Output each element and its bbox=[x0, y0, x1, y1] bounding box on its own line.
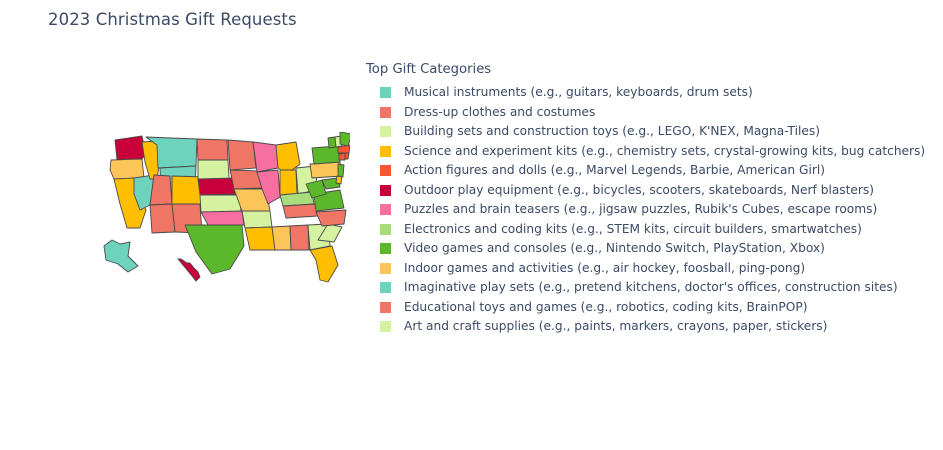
map-state-nj[interactable]: New Jersey: Video games and consoles (e.… bbox=[338, 164, 344, 177]
legend-color-swatch bbox=[380, 282, 391, 293]
map-state-ri[interactable]: Rhode Island: Action figures and dolls (… bbox=[345, 153, 349, 159]
legend-item-label: Building sets and construction toys (e.g… bbox=[404, 122, 820, 142]
map-legend: Top Gift Categories Musical instruments … bbox=[366, 62, 936, 337]
legend-item-label: Indoor games and activities (e.g., air h… bbox=[404, 259, 805, 279]
map-state-al[interactable]: Alabama: Dress-up clothes and costumes bbox=[290, 225, 309, 250]
legend-color-swatch bbox=[380, 185, 391, 196]
legend-item[interactable]: Educational toys and games (e.g., roboti… bbox=[366, 298, 936, 318]
map-state-tn[interactable]: Tennessee: Dress-up clothes and costumes bbox=[283, 204, 318, 218]
legend-color-swatch bbox=[380, 204, 391, 215]
legend-item-label: Art and craft supplies (e.g., paints, ma… bbox=[404, 317, 827, 337]
legend-title: Top Gift Categories bbox=[366, 62, 936, 77]
map-state-ny[interactable]: New York: Video games and consoles (e.g.… bbox=[312, 146, 340, 164]
legend-item-label: Puzzles and brain teasers (e.g., jigsaw … bbox=[404, 200, 877, 220]
legend-item[interactable]: Building sets and construction toys (e.g… bbox=[366, 122, 936, 142]
legend-item[interactable]: Musical instruments (e.g., guitars, keyb… bbox=[366, 83, 936, 103]
map-state-in[interactable]: Indiana: Science and experiment kits (e.… bbox=[280, 170, 297, 195]
page-title: 2023 Christmas Gift Requests bbox=[48, 10, 297, 29]
states-group: Washington: Outdoor play equipment (e.g.… bbox=[104, 132, 350, 282]
legend-item[interactable]: Video games and consoles (e.g., Nintendo… bbox=[366, 239, 936, 259]
legend-item[interactable]: Art and craft supplies (e.g., paints, ma… bbox=[366, 317, 936, 337]
legend-item-label: Outdoor play equipment (e.g., bicycles, … bbox=[404, 181, 874, 201]
legend-item[interactable]: Indoor games and activities (e.g., air h… bbox=[366, 259, 936, 279]
map-state-or[interactable]: Oregon: Indoor games and activities (e.g… bbox=[110, 159, 144, 179]
map-state-pa[interactable]: Pennsylvania: Indoor games and activitie… bbox=[310, 162, 342, 178]
legend-color-swatch bbox=[380, 146, 391, 157]
legend-color-swatch bbox=[380, 243, 391, 254]
map-state-mn[interactable]: Minnesota: Dress-up clothes and costumes bbox=[228, 140, 256, 170]
map-state-ms[interactable]: Mississippi: Indoor games and activities… bbox=[272, 226, 291, 250]
legend-item[interactable]: Action figures and dolls (e.g., Marvel L… bbox=[366, 161, 936, 181]
legend-item[interactable]: Dress-up clothes and costumes bbox=[366, 103, 936, 123]
map-state-me[interactable]: Maine: Video games and consoles (e.g., N… bbox=[340, 132, 350, 146]
legend-color-swatch bbox=[380, 87, 391, 98]
map-state-fl[interactable]: Florida: Science and experiment kits (e.… bbox=[310, 246, 338, 282]
legend-color-swatch bbox=[380, 302, 391, 313]
legend-item-label: Electronics and coding kits (e.g., STEM … bbox=[404, 220, 862, 240]
legend-item-label: Action figures and dolls (e.g., Marvel L… bbox=[404, 161, 825, 181]
map-state-wa[interactable]: Washington: Outdoor play equipment (e.g.… bbox=[115, 136, 146, 160]
map-state-ne[interactable]: Nebraska: Outdoor play equipment (e.g., … bbox=[198, 178, 237, 195]
map-state-hi[interactable]: Hawaii: Outdoor play equipment (e.g., bi… bbox=[178, 259, 200, 281]
legend-item-label: Video games and consoles (e.g., Nintendo… bbox=[404, 239, 825, 259]
map-state-ok[interactable]: Oklahoma: Puzzles and brain teasers (e.g… bbox=[201, 211, 244, 225]
map-state-sd[interactable]: South Dakota: Building sets and construc… bbox=[198, 160, 229, 179]
map-state-tx[interactable]: Texas: Video games and consoles (e.g., N… bbox=[185, 225, 244, 274]
legend-item[interactable]: Electronics and coding kits (e.g., STEM … bbox=[366, 220, 936, 240]
map-state-ks[interactable]: Kansas: Building sets and construction t… bbox=[200, 195, 241, 212]
legend-color-swatch bbox=[380, 126, 391, 137]
map-state-ar[interactable]: Arkansas: Building sets and construction… bbox=[242, 211, 272, 228]
map-state-wi[interactable]: Wisconsin: Puzzles and brain teasers (e.… bbox=[253, 142, 278, 172]
us-choropleth-map: Washington: Outdoor play equipment (e.g.… bbox=[90, 132, 350, 302]
legend-color-swatch bbox=[380, 165, 391, 176]
legend-color-swatch bbox=[380, 321, 391, 332]
map-state-ky[interactable]: Kentucky: Electronics and coding kits (e… bbox=[280, 192, 314, 206]
legend-item[interactable]: Puzzles and brain teasers (e.g., jigsaw … bbox=[366, 200, 936, 220]
map-state-ut[interactable]: Utah: Dress-up clothes and costumes bbox=[150, 175, 172, 205]
map-state-ak[interactable]: Alaska: Musical instruments (e.g., guita… bbox=[104, 240, 138, 272]
map-state-nd[interactable]: North Dakota: Dress-up clothes and costu… bbox=[197, 139, 228, 160]
legend-item[interactable]: Imaginative play sets (e.g., pretend kit… bbox=[366, 278, 936, 298]
legend-item-label: Educational toys and games (e.g., roboti… bbox=[404, 298, 807, 318]
map-state-nc[interactable]: North Carolina: Dress-up clothes and cos… bbox=[316, 210, 346, 226]
legend-color-swatch bbox=[380, 263, 391, 274]
map-state-la[interactable]: Louisiana: Science and experiment kits (… bbox=[245, 227, 275, 250]
legend-item[interactable]: Outdoor play equipment (e.g., bicycles, … bbox=[366, 181, 936, 201]
map-svg: Washington: Outdoor play equipment (e.g.… bbox=[90, 132, 350, 302]
legend-color-swatch bbox=[380, 107, 391, 118]
legend-items-list: Musical instruments (e.g., guitars, keyb… bbox=[366, 83, 936, 337]
legend-item-label: Dress-up clothes and costumes bbox=[404, 103, 595, 123]
legend-color-swatch bbox=[380, 224, 391, 235]
map-state-az[interactable]: Arizona: Dress-up clothes and costumes bbox=[150, 204, 175, 233]
legend-item-label: Science and experiment kits (e.g., chemi… bbox=[404, 142, 925, 162]
legend-item[interactable]: Science and experiment kits (e.g., chemi… bbox=[366, 142, 936, 162]
legend-item-label: Imaginative play sets (e.g., pretend kit… bbox=[404, 278, 898, 298]
legend-item-label: Musical instruments (e.g., guitars, keyb… bbox=[404, 83, 753, 103]
